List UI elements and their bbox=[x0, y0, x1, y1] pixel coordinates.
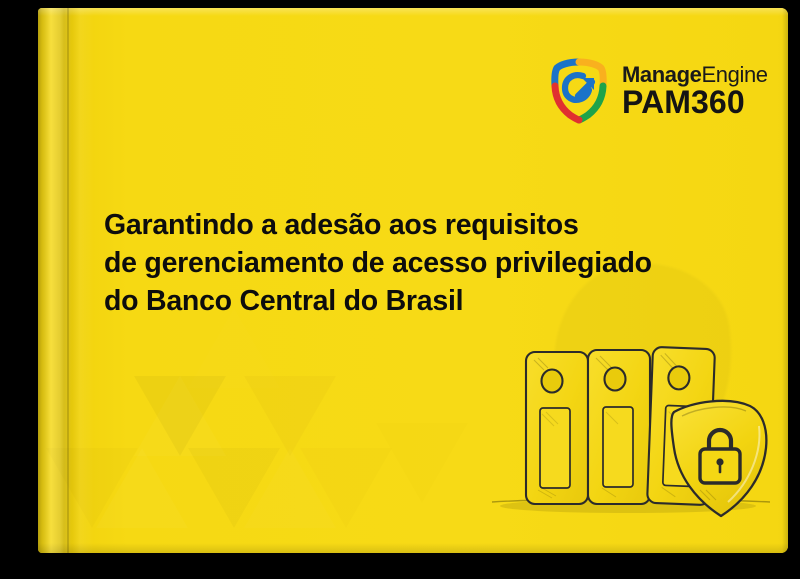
cover-title: Garantindo a adesão aos requisitos de ge… bbox=[104, 206, 744, 320]
book-spine-crease bbox=[67, 8, 69, 553]
cover-bottom-shadow bbox=[38, 543, 788, 553]
cover-title-line-3: do Banco Central do Brasil bbox=[104, 282, 744, 320]
cover-right-edge-shadow bbox=[782, 8, 788, 553]
ebook-cover: ManageEngine PAM360 Garantindo a adesão … bbox=[38, 8, 788, 553]
binder-2 bbox=[588, 350, 650, 504]
cover-top-highlight bbox=[38, 8, 788, 16]
illustration-binders-shield bbox=[478, 330, 778, 535]
screenshot-stage: ManageEngine PAM360 Garantindo a adesão … bbox=[0, 0, 800, 579]
logo-wordmark: ManageEngine PAM360 bbox=[622, 62, 788, 118]
manageengine-shield-arrow-logo-icon bbox=[548, 56, 610, 124]
book-spine bbox=[38, 8, 94, 553]
manageengine-pam360-logo: ManageEngine PAM360 bbox=[548, 56, 788, 124]
cover-title-line-2: de gerenciamento de acesso privilegiado bbox=[104, 244, 744, 282]
binder-1 bbox=[526, 352, 588, 504]
cover-title-line-1: Garantindo a adesão aos requisitos bbox=[104, 206, 744, 244]
logo-product-name: PAM360 bbox=[622, 84, 745, 120]
